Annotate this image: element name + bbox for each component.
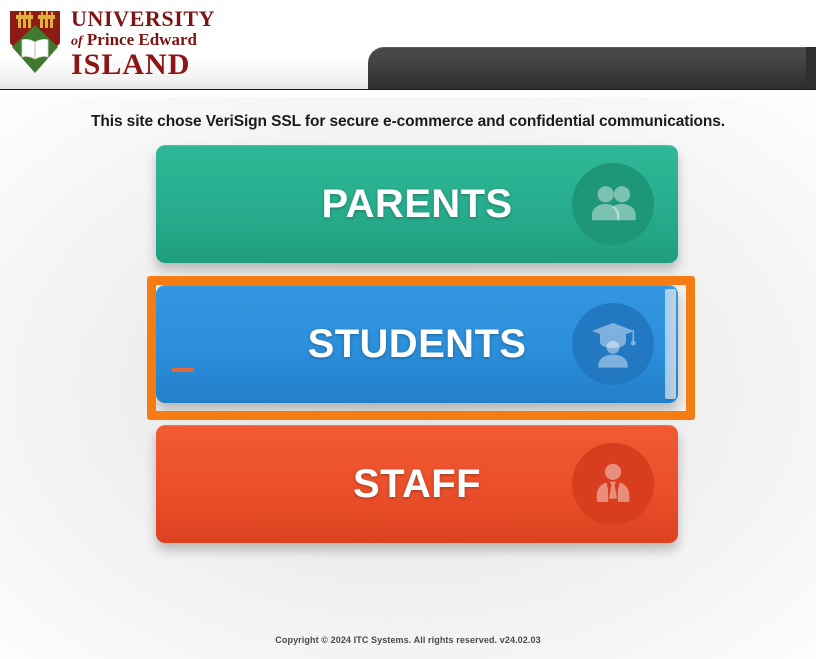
focus-marker-dash <box>172 368 194 372</box>
two-people-icon <box>572 163 654 245</box>
staff-button[interactable]: STAFF <box>156 425 678 543</box>
logo-line-island: ISLAND <box>71 50 215 80</box>
business-person-icon <box>572 443 654 525</box>
parents-button[interactable]: PARENTS <box>156 145 678 263</box>
stack-gap-1 <box>156 263 678 285</box>
ssl-notice: This site chose VeriSign SSL for secure … <box>0 113 816 131</box>
kiosk-screen: UNIVERSITY of Prince Edward ISLAND This … <box>0 0 816 659</box>
header-divider <box>0 89 816 90</box>
role-button-stack: PARENTS STUDENTS <box>156 145 678 543</box>
upei-wordmark: UNIVERSITY of Prince Edward ISLAND <box>71 8 215 80</box>
stack-gap-2 <box>156 403 678 425</box>
students-button[interactable]: STUDENTS <box>156 285 678 403</box>
upei-crest-icon <box>8 9 62 79</box>
logo-line-prince-edward: of Prince Edward <box>71 31 215 49</box>
footer-copyright: Copyright © 2024 ITC Systems. All rights… <box>0 635 816 645</box>
logo-line-university: UNIVERSITY <box>71 8 215 30</box>
logo-of-word: of <box>71 34 83 49</box>
inner-edge-strip <box>665 289 676 399</box>
role-slot-parents: PARENTS <box>156 145 678 263</box>
page-header: UNIVERSITY of Prince Edward ISLAND <box>0 0 816 90</box>
main-content: This site chose VeriSign SSL for secure … <box>0 97 816 659</box>
upei-logo: UNIVERSITY of Prince Edward ISLAND <box>8 8 215 80</box>
staff-button-label: STAFF <box>353 462 481 507</box>
students-button-label: STUDENTS <box>308 322 527 367</box>
header-dark-bar <box>368 47 816 90</box>
role-slot-staff: STAFF <box>156 425 678 543</box>
role-slot-students: STUDENTS <box>156 285 678 403</box>
graduate-person-icon <box>572 303 654 385</box>
parents-button-label: PARENTS <box>322 182 513 227</box>
header-dark-bar-tail <box>806 47 816 90</box>
logo-prince-edward-text: Prince Edward <box>87 30 197 49</box>
